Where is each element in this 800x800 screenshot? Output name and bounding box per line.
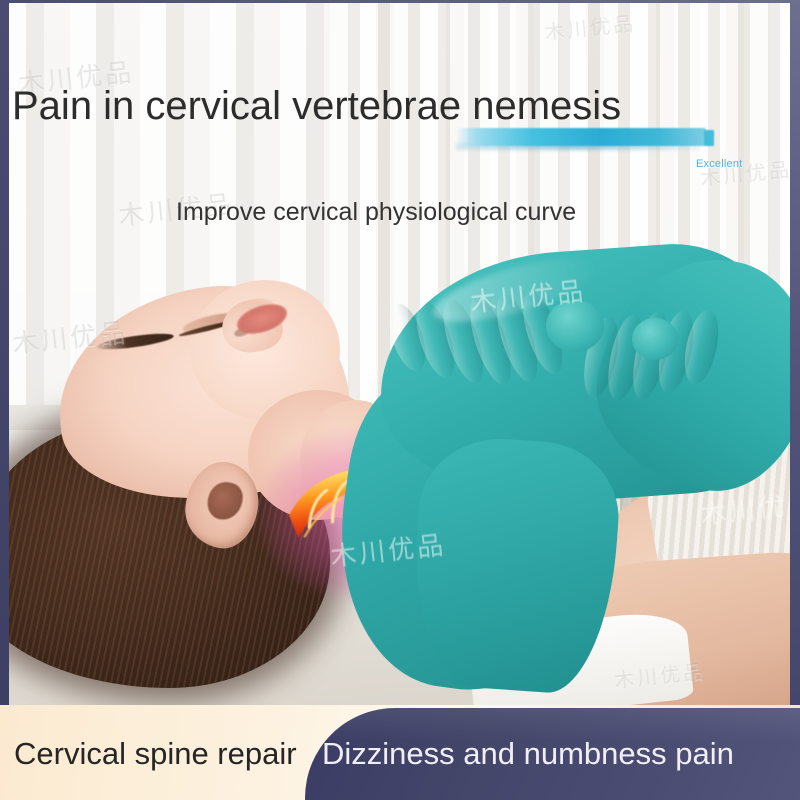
right-rail bbox=[790, 0, 800, 708]
page-subtitle: Improve cervical physiological curve bbox=[176, 198, 576, 227]
page-title: Pain in cervical vertebrae nemesis bbox=[12, 84, 621, 128]
promo-image: Excellent 木川优品 木川优品 木川优品 木川优品 木川优品 木川优品 … bbox=[0, 0, 800, 800]
top-rail bbox=[0, 0, 800, 3]
device-massage-bump-left bbox=[546, 300, 604, 352]
accent-bar bbox=[456, 128, 706, 146]
banner-right-label: Dizziness and numbness pain bbox=[322, 736, 734, 772]
banner-left-label: Cervical spine repair bbox=[14, 736, 297, 772]
left-rail bbox=[0, 0, 9, 708]
device-massage-bump-right bbox=[632, 318, 678, 360]
excellent-badge: Excellent bbox=[696, 158, 742, 170]
product-photo: Excellent 木川优品 木川优品 木川优品 木川优品 木川优品 木川优品 … bbox=[0, 0, 800, 708]
